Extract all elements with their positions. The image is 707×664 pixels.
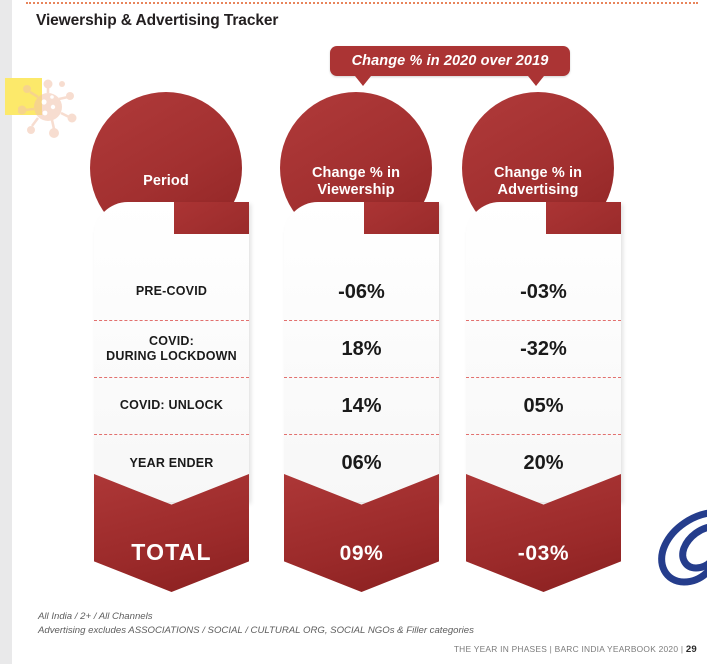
column-header-label: Period	[133, 173, 199, 190]
table-row: 18%	[284, 321, 439, 378]
column-advertising: Change % in Advertising -03% -32% 05% 20…	[462, 92, 628, 604]
page-title: Viewership & Advertising Tracker	[36, 12, 278, 30]
page-number: 29	[686, 644, 697, 655]
row-label-line2: DURING LOCKDOWN	[106, 349, 237, 364]
table-row: COVID: DURING LOCKDOWN	[94, 321, 249, 378]
table-row: -32%	[466, 321, 621, 378]
column-notch	[546, 202, 621, 234]
cell-value: 14%	[341, 394, 381, 418]
total-label: TOTAL	[131, 539, 212, 592]
cell-value: 18%	[341, 337, 381, 361]
table-row: -03%	[466, 264, 621, 321]
table-row: 05%	[466, 378, 621, 435]
virus-icon	[18, 76, 78, 138]
table-row: 14%	[284, 378, 439, 435]
banner-arrow-left-icon	[355, 76, 371, 86]
column-rows: -03% -32% 05% 20%	[466, 264, 621, 492]
top-dotted-rule	[26, 2, 698, 4]
row-label: COVID: UNLOCK	[120, 398, 223, 413]
cell-value: 06%	[341, 451, 381, 475]
row-label: YEAR ENDER	[130, 456, 214, 471]
column-body-advertising: -03% -32% 05% 20%	[466, 202, 621, 502]
header-line-2: Viewership	[312, 182, 400, 199]
column-viewership: Change % in Viewership -06% 18% 14% 06%	[280, 92, 446, 604]
row-label: PRE-COVID	[136, 284, 207, 299]
header-line-1: Change % in	[312, 165, 400, 182]
total-value: -03%	[518, 542, 569, 592]
column-body-period: PRE-COVID COVID: DURING LOCKDOWN COVID: …	[94, 202, 249, 502]
total-value: 09%	[340, 542, 384, 592]
column-header-label: Change % in Advertising	[484, 165, 592, 199]
table-row: COVID: UNLOCK	[94, 378, 249, 435]
page-footer: THE YEAR IN PHASES | BARC INDIA YEARBOOK…	[454, 644, 697, 655]
column-rows: PRE-COVID COVID: DURING LOCKDOWN COVID: …	[94, 264, 249, 492]
table-row: -06%	[284, 264, 439, 321]
cell-value: -03%	[520, 280, 567, 304]
cell-value: -32%	[520, 337, 567, 361]
column-rows: -06% 18% 14% 06%	[284, 264, 439, 492]
table-row: PRE-COVID	[94, 264, 249, 321]
cell-value: 20%	[523, 451, 563, 475]
column-notch	[174, 202, 249, 234]
column-header-label: Change % in Viewership	[302, 165, 410, 199]
cell-value: 05%	[523, 394, 563, 418]
row-label: COVID:	[106, 334, 237, 349]
column-body-viewership: -06% 18% 14% 06%	[284, 202, 439, 502]
footnotes: All India / 2+ / All Channels Advertisin…	[38, 610, 474, 639]
banner-arrow-right-icon	[528, 76, 544, 86]
column-period: Period PRE-COVID COVID: DURING LOCKDOWN	[90, 92, 256, 604]
header-line-1: Change % in	[494, 165, 582, 182]
banner-callout: Change % in 2020 over 2019	[330, 46, 570, 76]
cell-value: -06%	[338, 280, 385, 304]
footnote-line-1: All India / 2+ / All Channels	[38, 610, 474, 624]
tracker-columns: Period PRE-COVID COVID: DURING LOCKDOWN	[90, 92, 650, 604]
column-notch	[364, 202, 439, 234]
footnote-line-2: Advertising excludes ASSOCIATIONS / SOCI…	[38, 624, 474, 638]
header-line-2: Advertising	[494, 182, 582, 199]
header-line-1: Period	[143, 173, 189, 189]
banner-label: Change % in 2020 over 2019	[330, 46, 570, 76]
footer-text: THE YEAR IN PHASES | BARC INDIA YEARBOOK…	[454, 644, 683, 654]
